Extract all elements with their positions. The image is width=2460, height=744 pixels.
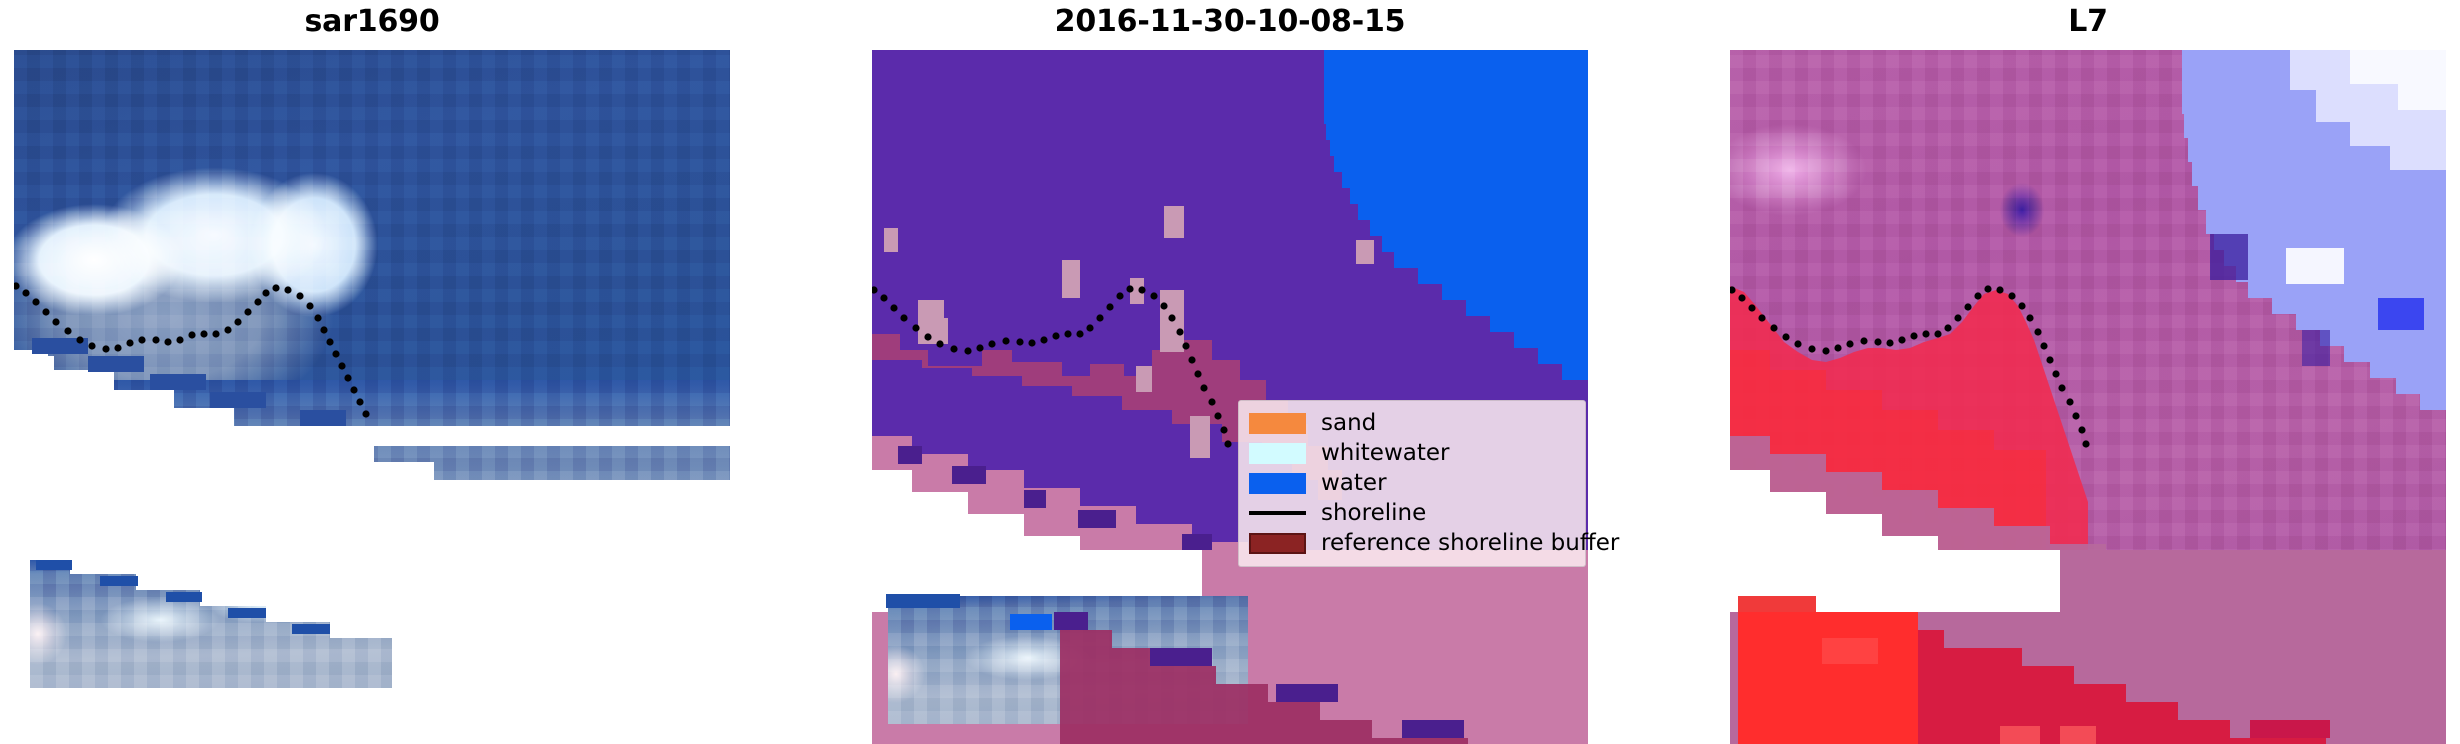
panel-index-axes — [1730, 50, 2446, 744]
mask-scene-stair — [114, 390, 174, 430]
water-swatch — [1249, 473, 1306, 494]
mask-scene-stair — [14, 356, 54, 416]
sand-swatch — [1249, 413, 1306, 434]
legend-label-whitewater: whitewater — [1321, 442, 1449, 465]
legend-item-whitewater[interactable]: whitewater — [1249, 438, 1573, 468]
legend-label-sand: sand — [1321, 412, 1376, 435]
stair-accent — [210, 392, 266, 408]
panel-classification-title: 2016-11-30-10-08-15 — [872, 4, 1588, 39]
reference-shoreline-buffer-swatch — [1249, 533, 1306, 554]
stair-accent — [88, 356, 144, 372]
legend-item-sand[interactable]: sand — [1249, 408, 1573, 438]
panel-rgb-axes — [14, 50, 730, 744]
stair-accent — [150, 374, 206, 390]
legend-item-reference-shoreline-buffer[interactable]: reference shoreline buffer — [1249, 528, 1573, 558]
stair-accent — [300, 410, 346, 426]
shoreline-line-icon — [1249, 503, 1306, 524]
legend-label-water: water — [1321, 472, 1387, 495]
index-lower-block — [1730, 550, 2446, 744]
mask-scene-stair — [174, 408, 234, 438]
mask-scene-stair — [234, 426, 730, 446]
legend-box: sand whitewater water shoreline referenc… — [1238, 400, 1586, 567]
mask-scene-stair — [54, 372, 114, 422]
panel-index-title: L7 — [1730, 4, 2446, 39]
panel-classification-axes — [872, 50, 1588, 744]
legend-label-shoreline: shoreline — [1321, 502, 1426, 525]
figure-canvas: sar1690 — [0, 0, 2460, 744]
legend-item-water[interactable]: water — [1249, 468, 1573, 498]
rgb-lower-block — [30, 560, 392, 688]
panel-rgb-title: sar1690 — [14, 4, 730, 39]
legend-item-shoreline[interactable]: shoreline — [1249, 498, 1573, 528]
stair-accent — [32, 338, 88, 354]
classification-lower-block — [872, 550, 1588, 744]
legend-label-reference-shoreline-buffer: reference shoreline buffer — [1321, 532, 1619, 555]
whitewater-swatch — [1249, 443, 1306, 464]
